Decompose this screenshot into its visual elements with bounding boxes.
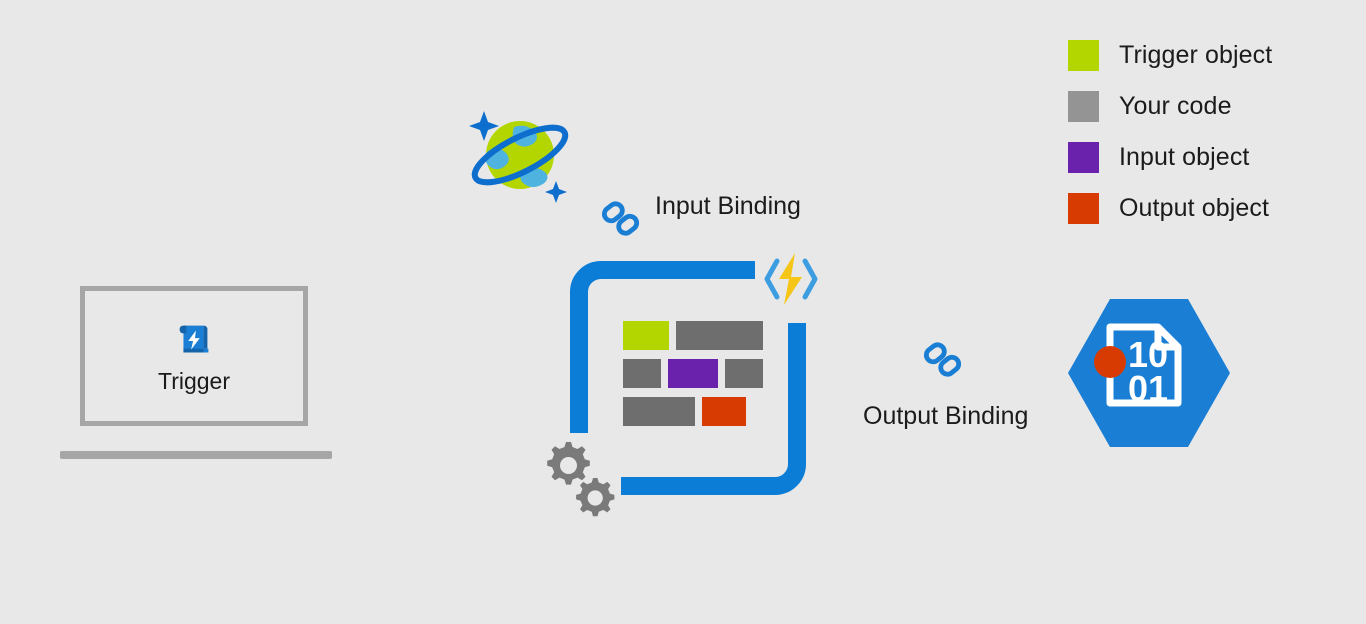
storage-doc-line-2: 01 <box>1128 368 1168 409</box>
code-rows <box>623 321 763 435</box>
code-chip-output <box>702 397 746 426</box>
code-chip-code <box>725 359 763 388</box>
code-chip-input <box>668 359 718 388</box>
color-swatch-icon <box>1068 193 1099 224</box>
legend: Trigger object Your code Input object Ou… <box>1068 30 1358 234</box>
code-chip-trigger <box>623 321 669 350</box>
code-chip-code <box>623 397 695 426</box>
gears-icon <box>541 438 619 518</box>
trigger-label: Trigger <box>158 368 230 395</box>
legend-item-output-object: Output object <box>1068 183 1358 234</box>
laptop-screen: Trigger <box>80 286 308 426</box>
code-row <box>623 397 763 426</box>
color-swatch-icon <box>1068 40 1099 71</box>
input-binding-label: Input Binding <box>655 192 801 221</box>
output-object-dot <box>1094 346 1126 378</box>
color-swatch-icon <box>1068 142 1099 173</box>
legend-item-trigger-object: Trigger object <box>1068 30 1358 81</box>
legend-label: Your code <box>1119 92 1232 121</box>
cosmos-db-planet-icon <box>462 95 582 215</box>
function-block <box>543 243 833 523</box>
chain-link-icon[interactable] <box>598 196 644 242</box>
chain-link-icon[interactable] <box>920 337 966 383</box>
code-row <box>623 359 763 388</box>
blob-storage-hexagon-icon: 10 01 <box>1066 295 1232 451</box>
code-chip-code <box>676 321 763 350</box>
output-binding-label: Output Binding <box>863 402 1028 431</box>
scroll-lightning-icon <box>171 318 217 364</box>
legend-label: Output object <box>1119 194 1269 223</box>
legend-label: Trigger object <box>1119 41 1272 70</box>
code-chip-code <box>623 359 661 388</box>
legend-label: Input object <box>1119 143 1249 172</box>
legend-item-input-object: Input object <box>1068 132 1358 183</box>
legend-item-your-code: Your code <box>1068 81 1358 132</box>
laptop-base <box>60 451 332 459</box>
diagram-canvas: Trigger object Your code Input object Ou… <box>0 0 1366 624</box>
color-swatch-icon <box>1068 91 1099 122</box>
azure-functions-bolt-icon <box>761 251 821 307</box>
code-row <box>623 321 763 350</box>
